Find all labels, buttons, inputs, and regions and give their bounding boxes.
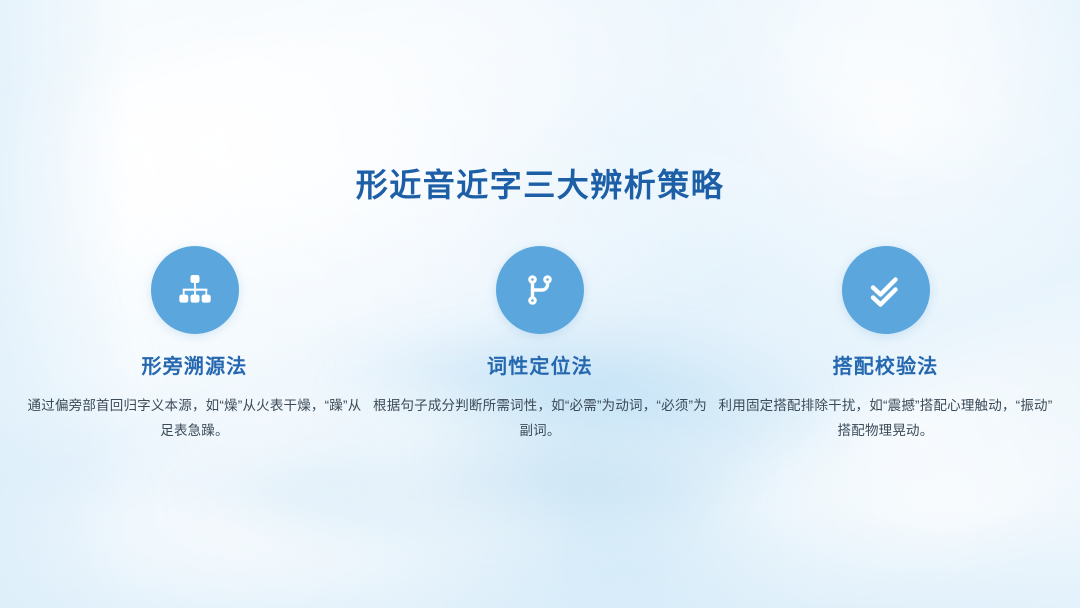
sitemap-icon [175,270,215,310]
slide-canvas: 形近音近字三大辨析策略 [0,0,1080,608]
slide-content: 形近音近字三大辨析策略 [0,0,1080,608]
strategy-heading-2: 词性定位法 [487,354,593,380]
strategy-body-1: 通过偏旁部首回归字义本源，如“燥”从火表干燥，“躁”从足表急躁。 [22,394,367,444]
strategy-heading-3: 搭配校验法 [833,354,939,380]
strategy-column-2: 词性定位法 根据句子成分判断所需词性，如“必需”为动词，“必须”为副词。 [368,246,713,444]
strategy-columns: 形旁溯源法 通过偏旁部首回归字义本源，如“燥”从火表干燥，“躁”从足表急躁。 [0,246,1080,444]
strategy-column-1: 形旁溯源法 通过偏旁部首回归字义本源，如“燥”从火表干燥，“躁”从足表急躁。 [22,246,367,444]
strategy-icon-badge-1 [151,246,239,334]
strategy-icon-badge-2 [496,246,584,334]
strategy-body-2: 根据句子成分判断所需词性，如“必需”为动词，“必须”为副词。 [368,394,713,444]
strategy-body-3: 利用固定搭配排除干扰，如“震撼”搭配心理触动，“振动”搭配物理晃动。 [713,394,1058,444]
strategy-heading-1: 形旁溯源法 [142,354,248,380]
strategy-icon-badge-3 [842,246,930,334]
double-check-icon [866,270,906,310]
page-title: 形近音近字三大辨析策略 [0,165,1080,205]
git-branch-icon [520,270,560,310]
strategy-column-3: 搭配校验法 利用固定搭配排除干扰，如“震撼”搭配心理触动，“振动”搭配物理晃动。 [713,246,1058,444]
